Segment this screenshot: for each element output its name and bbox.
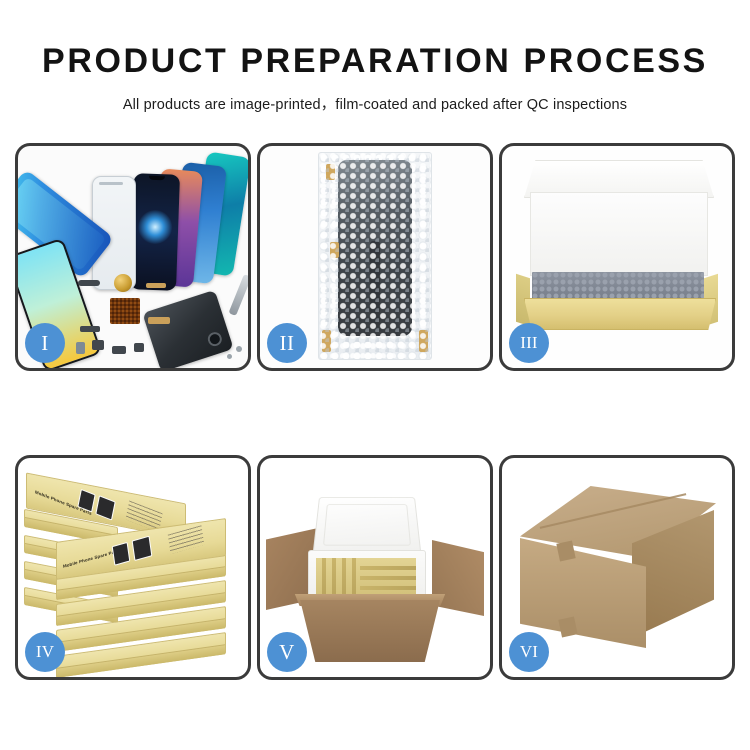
flex-cable-part-d <box>148 317 170 324</box>
process-step-panel-5[interactable]: V <box>257 455 493 680</box>
process-step-grid: I II III <box>15 143 735 680</box>
step-badge-6: VI <box>509 632 549 672</box>
carton-tab-lower <box>558 617 577 638</box>
flex-cable-part-a <box>78 280 100 286</box>
process-step-panel-1[interactable]: I <box>15 143 251 371</box>
step-badge-1: I <box>25 323 65 363</box>
grey-bubble-wrap-fill <box>532 272 704 302</box>
process-step-panel-4[interactable]: Mobile Phone Spare Parts Mobile Phone Sp… <box>15 455 251 680</box>
process-step-panel-6[interactable]: VI <box>499 455 735 680</box>
connector-part-g <box>134 343 144 352</box>
packed-yellow-boxes <box>316 558 416 598</box>
tape-strip-1 <box>326 164 335 180</box>
carton-body <box>294 600 446 662</box>
ic-chip-part <box>110 298 140 324</box>
step-badge-5: V <box>267 632 307 672</box>
screw-part-a <box>236 346 242 352</box>
phone-dark-display <box>130 173 180 291</box>
process-step-panel-2[interactable]: II <box>257 143 493 371</box>
flex-cable-part-b <box>146 283 166 288</box>
flex-cable-part-c <box>80 326 100 332</box>
tape-strip-2 <box>330 242 339 258</box>
page-header: PRODUCT PREPARATION PROCESS All products… <box>0 0 750 114</box>
tape-strip-3 <box>322 330 331 352</box>
process-step-panel-3[interactable]: III <box>499 143 735 371</box>
carton-tab-upper <box>556 541 575 562</box>
phone-back-housing <box>142 290 233 368</box>
box-window-2b <box>132 536 153 561</box>
lcd-screen-assembly <box>338 160 412 336</box>
vibration-motor-part <box>114 274 132 292</box>
foam-cooler-lid <box>313 497 422 555</box>
step-badge-3: III <box>509 323 549 363</box>
tape-strip-4 <box>419 330 428 352</box>
camera-module-part <box>76 342 85 354</box>
step-badge-4: IV <box>25 632 65 672</box>
box-window-1b <box>95 495 116 520</box>
page-title: PRODUCT PREPARATION PROCESS <box>0 0 750 80</box>
box-spec-lines-2 <box>168 525 204 554</box>
connector-part-e <box>92 340 104 350</box>
screwdriver-icon <box>228 274 248 316</box>
box-window-2a <box>112 542 131 566</box>
step-badge-2: II <box>267 323 307 363</box>
box-front-wall <box>524 298 716 330</box>
white-foam-sheet <box>530 192 708 276</box>
connector-part-f <box>112 346 126 354</box>
page-subtitle: All products are image-printed，film-coat… <box>0 80 750 114</box>
screw-part-b <box>227 354 232 359</box>
